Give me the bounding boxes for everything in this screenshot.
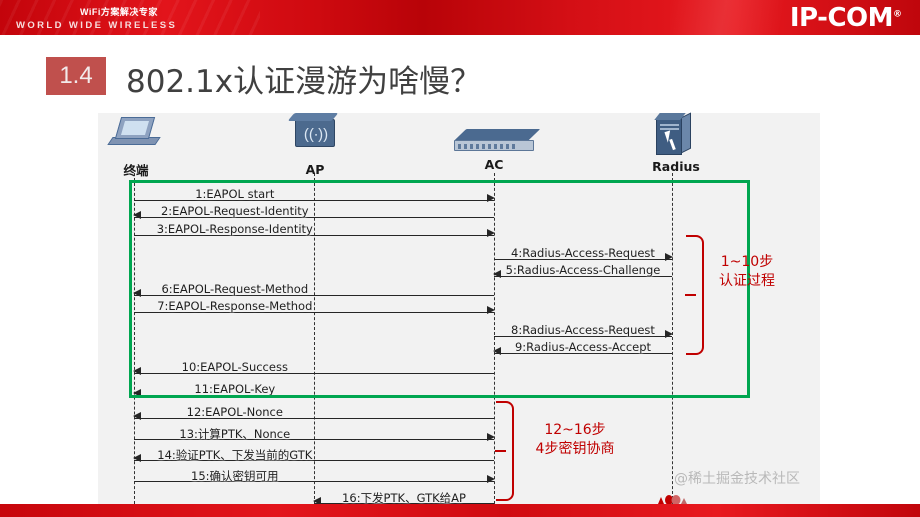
red-decor-svg: [654, 488, 690, 504]
key-phase-annotation-line1: 12~16步: [510, 421, 640, 440]
message-label: 4:Radius-Access-Request: [511, 246, 655, 260]
arrow-head-left-icon: [493, 270, 501, 278]
message-label: 12:EAPOL-Nonce: [187, 405, 283, 419]
banner-tagline-en: WORLD WIDE WIRELESS: [16, 20, 177, 31]
message-row: 9:Radius-Access-Accept: [494, 341, 672, 357]
message-line: [134, 481, 494, 482]
arrow-head-left-icon: [133, 454, 141, 462]
ipcom-logo: IP-COM®: [790, 3, 902, 33]
message-row: 6:EAPOL-Request-Method: [134, 283, 494, 299]
key-phase-annotation-line2: 4步密钥协商: [510, 440, 640, 459]
watermark-text: @稀土掘金技术社区: [674, 468, 800, 488]
key-phase-annotation: 12~16步 4步密钥协商: [510, 421, 640, 459]
laptop-screen-decor: [121, 121, 149, 135]
ac-ports-decor: [458, 144, 516, 149]
bottom-red-bar: [0, 504, 920, 517]
message-label: 9:Radius-Access-Accept: [515, 340, 651, 354]
arrow-head-right-icon: [487, 306, 495, 314]
message-row: 8:Radius-Access-Request: [494, 324, 672, 340]
message-row: 7:EAPOL-Response-Method: [134, 300, 494, 316]
message-row: 4:Radius-Access-Request: [494, 247, 672, 263]
message-label: 1:EAPOL start: [195, 187, 274, 201]
message-line: [134, 395, 494, 396]
arrow-head-right-icon: [487, 475, 495, 483]
section-number-badge: 1.4: [46, 57, 106, 95]
actor-ac: AC: [454, 125, 538, 173]
sequence-diagram: 终端 ((∙)) AP AC: [98, 113, 820, 504]
message-line: [134, 200, 494, 201]
arrow-head-left-icon: [133, 389, 141, 397]
logo-text: IP-COM: [790, 3, 893, 33]
actor-label-ap: AP: [306, 162, 325, 177]
arrow-head-left-icon: [133, 289, 141, 297]
message-label: 15:确认密钥可用: [191, 468, 279, 484]
top-banner: WiFi方案解决专家 WORLD WIDE WIRELESS IP-COM®: [0, 0, 920, 35]
message-label: 14:验证PTK、下发当前的GTK: [157, 447, 312, 463]
message-row: 12:EAPOL-Nonce: [134, 406, 494, 422]
message-label: 10:EAPOL-Success: [182, 360, 288, 374]
bracket-tick-decor: [495, 450, 506, 452]
message-row: 5:Radius-Access-Challenge: [494, 264, 672, 280]
slide-canvas: WiFi方案解决专家 WORLD WIDE WIRELESS IP-COM® 1…: [0, 0, 920, 517]
bracket-tick-decor: [685, 294, 696, 296]
auth-phase-annotation-line2: 认证过程: [702, 272, 792, 291]
auth-phase-annotation-line1: 1~10步: [702, 253, 792, 272]
arrow-head-right-icon: [665, 253, 673, 261]
arrow-head-right-icon: [487, 194, 495, 202]
arrow-head-left-icon: [133, 412, 141, 420]
message-row: 10:EAPOL-Success: [134, 361, 494, 377]
message-label: 8:Radius-Access-Request: [511, 323, 655, 337]
server-slot-decor: [660, 124, 679, 126]
actor-radius: Radius: [652, 115, 696, 173]
arrow-head-right-icon: [487, 433, 495, 441]
lifeline-radius: [672, 173, 673, 504]
wireless-ap-icon: ((∙)): [295, 119, 335, 147]
switch-controller-icon: [454, 140, 534, 151]
message-row: 13:计算PTK、Nonce: [134, 427, 494, 443]
actor-terminal: 终端: [110, 115, 160, 173]
cursor-arrow-icon: [664, 130, 673, 142]
message-row: 15:确认密钥可用: [134, 469, 494, 485]
message-row: 11:EAPOL-Key: [134, 383, 494, 399]
server-icon: [656, 119, 682, 155]
banner-tagline-cn: WiFi方案解决专家: [80, 5, 158, 18]
message-label: 5:Radius-Access-Challenge: [506, 263, 661, 277]
actor-label-terminal: 终端: [123, 160, 148, 179]
wifi-waves-icon: ((∙)): [296, 120, 336, 148]
server-side-decor: [681, 112, 691, 153]
server-top-decor: [654, 113, 685, 120]
message-label: 3:EAPOL-Response-Identity: [157, 222, 313, 236]
actor-label-radius: Radius: [652, 159, 700, 174]
ap-top-decor: [288, 113, 339, 121]
laptop-icon: [115, 117, 155, 139]
actor-label-ac: AC: [485, 157, 504, 172]
message-label: 11:EAPOL-Key: [194, 382, 275, 396]
arrow-head-left-icon: [133, 211, 141, 219]
auth-phase-annotation: 1~10步 认证过程: [702, 253, 792, 291]
arrow-head-left-icon: [133, 367, 141, 375]
red-decor-glyph: [654, 488, 690, 504]
actor-ap: ((∙)) AP: [291, 117, 339, 173]
message-label: 6:EAPOL-Request-Method: [161, 282, 308, 296]
message-row: 1:EAPOL start: [134, 188, 494, 204]
message-row: 2:EAPOL-Request-Identity: [134, 205, 494, 221]
message-label: 7:EAPOL-Response-Method: [157, 299, 312, 313]
registered-mark: ®: [893, 9, 902, 19]
message-row: 14:验证PTK、下发当前的GTK: [134, 448, 494, 464]
message-label: 2:EAPOL-Request-Identity: [161, 204, 309, 218]
arrow-head-right-icon: [665, 330, 673, 338]
message-row: 3:EAPOL-Response-Identity: [134, 223, 494, 239]
arrow-head-left-icon: [493, 347, 501, 355]
arrow-head-right-icon: [487, 229, 495, 237]
page-title: 802.1x认证漫游为啥慢？: [126, 56, 481, 101]
message-label: 13:计算PTK、Nonce: [179, 426, 290, 442]
